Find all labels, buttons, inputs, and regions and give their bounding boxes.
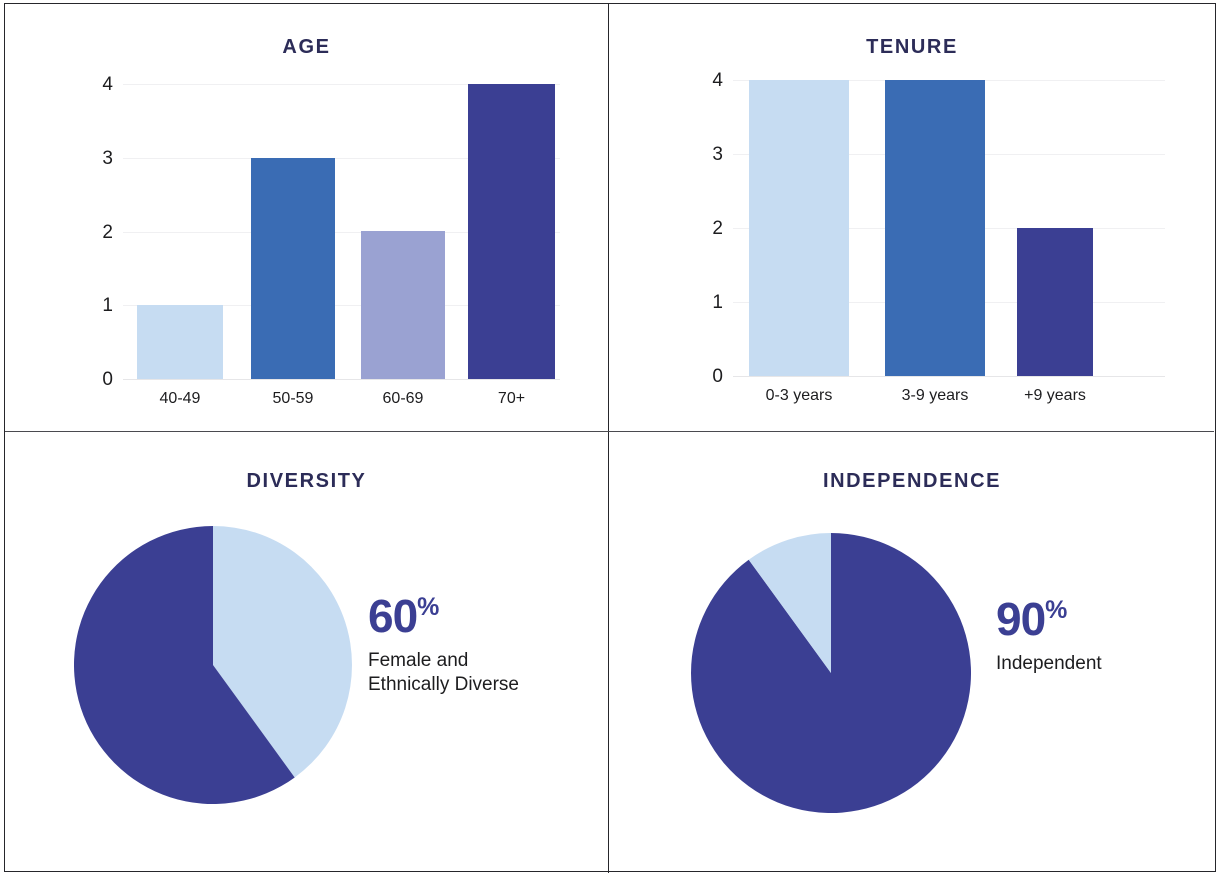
- horizontal-divider: [5, 431, 1214, 432]
- independence-pie-chart: [691, 533, 971, 813]
- pie-svg: [74, 526, 352, 804]
- diversity-pie-chart: [74, 526, 352, 804]
- y-axis-tick-label: 4: [697, 71, 723, 90]
- panel-age: AGE 0123440-4950-5960-6970+: [5, 4, 608, 431]
- x-axis-tick-label: 0-3 years: [729, 388, 869, 404]
- y-axis-tick-label: 0: [87, 370, 113, 389]
- panel-tenure: TENURE 012340-3 years3-9 years+9 years: [610, 4, 1214, 431]
- independence-percent-sign: %: [1045, 598, 1067, 623]
- age-chart-title: AGE: [5, 36, 608, 59]
- infographic-board: AGE 0123440-4950-5960-6970+ TENURE 01234…: [4, 3, 1216, 872]
- tenure-bar-chart: 012340-3 years3-9 years+9 years: [733, 80, 1165, 410]
- y-axis-tick-label: 2: [87, 223, 113, 242]
- bar: [885, 80, 985, 376]
- diversity-chart-title: DIVERSITY: [5, 470, 608, 493]
- bar: [749, 80, 849, 376]
- y-axis-tick-label: 1: [697, 293, 723, 312]
- pie-slice: [691, 533, 971, 813]
- independence-percent-value: 90: [996, 596, 1045, 642]
- panel-independence: INDEPENDENCE 90% Independent: [610, 433, 1214, 873]
- x-axis-tick-label: 70+: [442, 391, 582, 407]
- axis-baseline: [733, 376, 1165, 377]
- age-bar-chart: 0123440-4950-5960-6970+: [123, 84, 560, 413]
- x-axis-tick-label: 3-9 years: [865, 388, 1005, 404]
- y-axis-tick-label: 1: [87, 296, 113, 315]
- diversity-caption: Female and Ethnically Diverse: [368, 649, 578, 697]
- panel-diversity: DIVERSITY 60% Female and Ethnically Dive…: [5, 433, 608, 873]
- y-axis-tick-label: 0: [697, 367, 723, 386]
- bar: [361, 231, 445, 379]
- bar: [251, 158, 335, 379]
- axis-baseline: [123, 379, 560, 380]
- y-axis-tick-label: 2: [697, 219, 723, 238]
- x-axis-tick-label: +9 years: [985, 388, 1125, 404]
- independence-caption: Independent: [996, 652, 1206, 676]
- independence-stat-block: 90% Independent: [996, 596, 1206, 676]
- pie-svg: [691, 533, 971, 813]
- y-axis-tick-label: 3: [697, 145, 723, 164]
- bar: [1017, 228, 1093, 376]
- bar: [137, 305, 223, 379]
- diversity-stat-block: 60% Female and Ethnically Diverse: [368, 593, 578, 697]
- vertical-divider: [608, 4, 609, 873]
- diversity-percent-sign: %: [417, 595, 439, 620]
- independence-chart-title: INDEPENDENCE: [610, 470, 1214, 493]
- diversity-percent-value: 60: [368, 593, 417, 639]
- y-axis-tick-label: 4: [87, 75, 113, 94]
- bar: [468, 84, 555, 379]
- tenure-chart-title: TENURE: [610, 36, 1214, 59]
- y-axis-tick-label: 3: [87, 149, 113, 168]
